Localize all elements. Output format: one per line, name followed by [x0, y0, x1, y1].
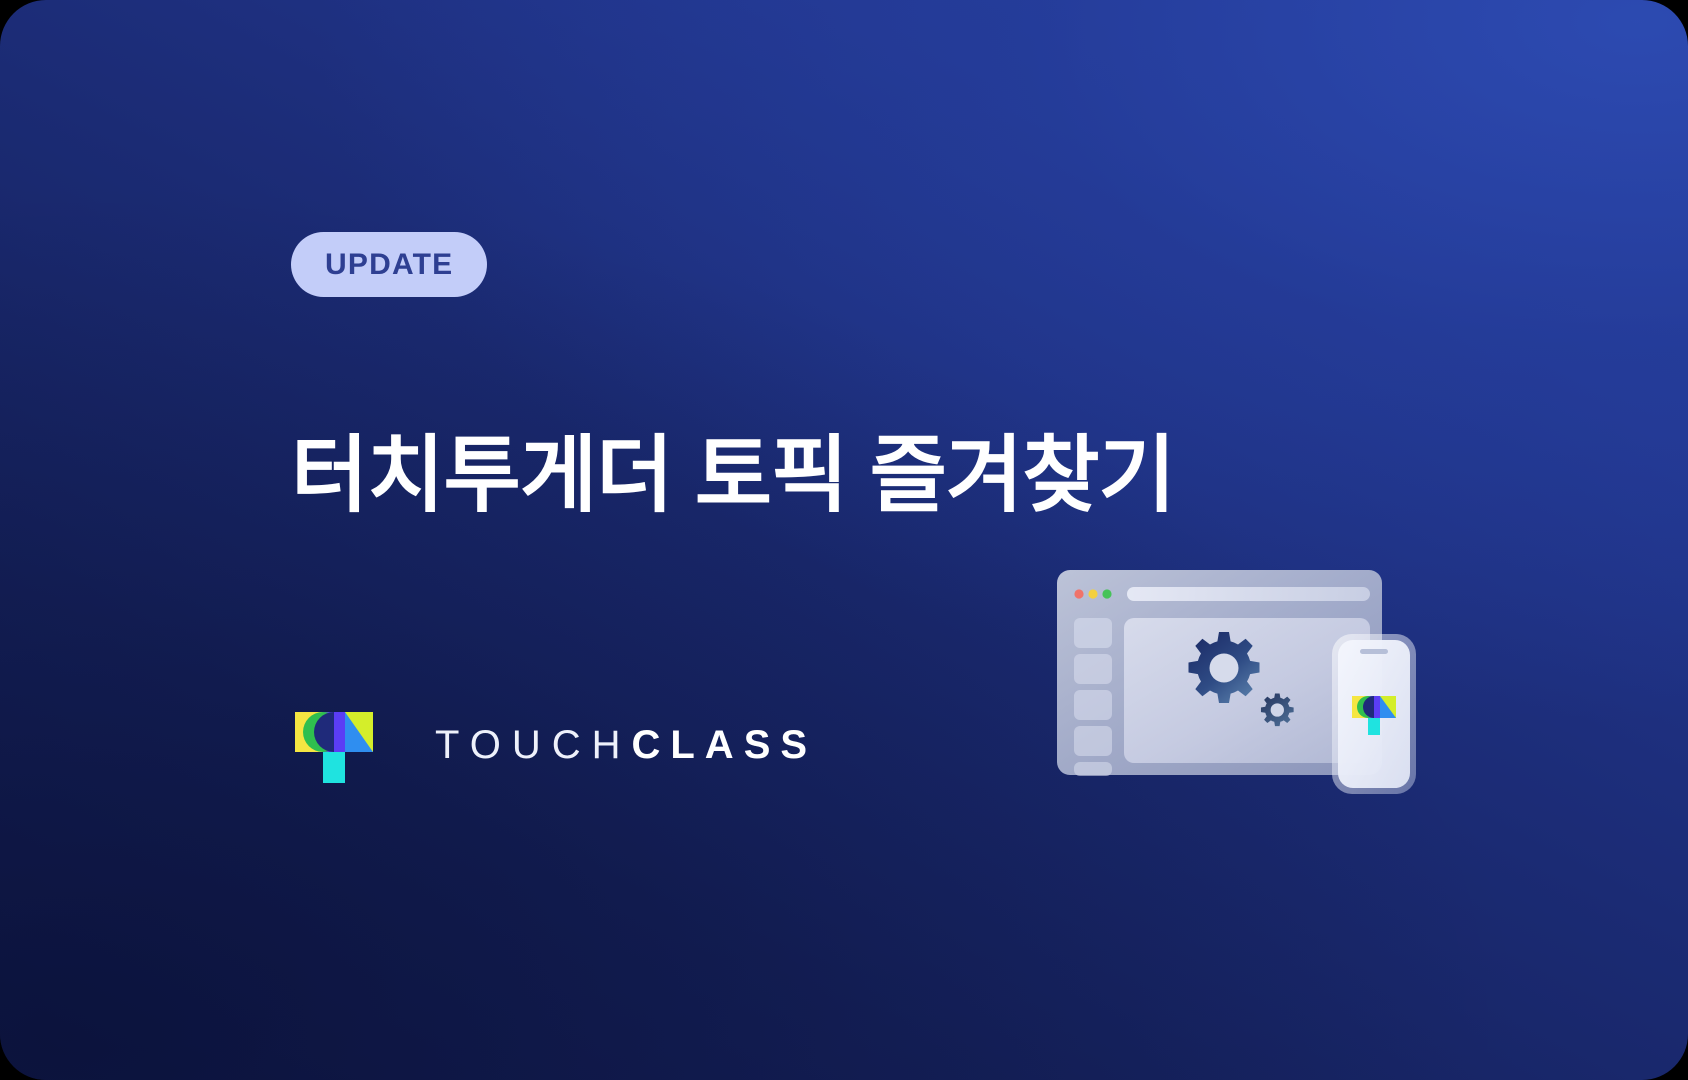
brand-wordmark-touch: TOUCH [435, 725, 631, 765]
settings-gear-small-icon [1261, 693, 1294, 726]
update-badge-label: UPDATE [325, 250, 453, 280]
brand-wordmark-class: CLASS [631, 725, 817, 765]
touchclass-logo-mark-icon [289, 700, 379, 790]
update-announcement-card: UPDATE 터치투게더 토픽 즐겨찾기 [0, 0, 1688, 1080]
brand-lockup: TOUCH CLASS [289, 690, 817, 800]
update-badge: UPDATE [291, 232, 487, 297]
headline-title: 터치투게더 토픽 즐겨찾기 [291, 427, 1391, 524]
brand-wordmark: TOUCH CLASS [435, 725, 817, 765]
settings-gear-large-icon [1189, 632, 1260, 703]
device-illustration [1052, 548, 1472, 818]
mobile-device [1332, 634, 1416, 794]
